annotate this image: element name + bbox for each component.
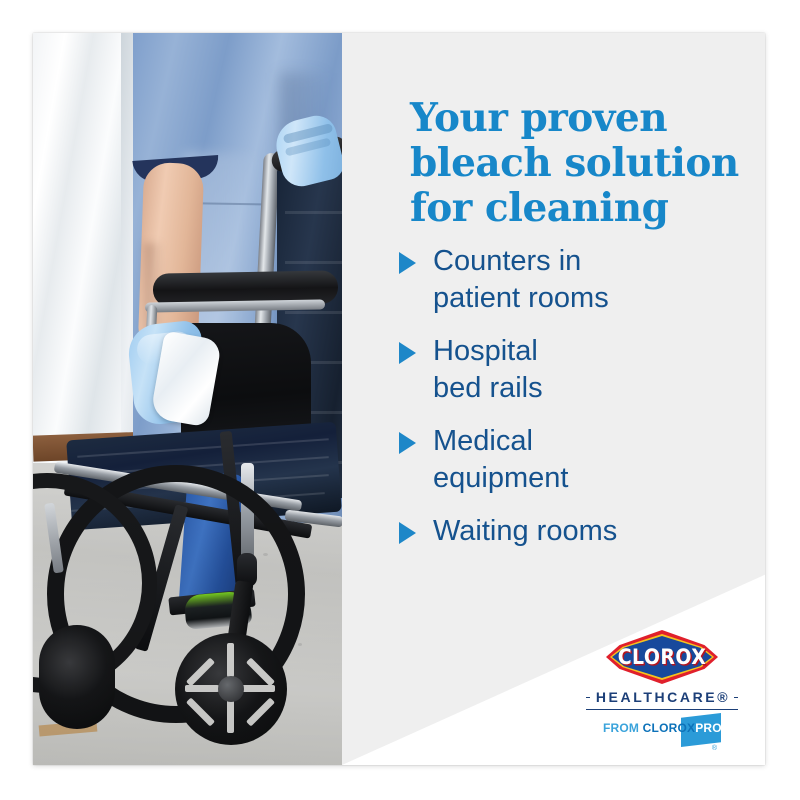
benefit-list: Counters in patient rooms Hospital bed r… [399,243,765,566]
triangle-right-icon [399,432,416,454]
triangle-right-icon [399,522,416,544]
photo-caster-wheel-rear [39,625,115,729]
cloroxpro-suffix: PRO [695,721,722,735]
triangle-right-icon [399,342,416,364]
cloroxpro-text: FROM CLOROXPRO [603,721,721,735]
list-item: Waiting rooms [399,513,765,550]
cloroxpro-endorsement: FROM CLOROXPRO ® [603,717,721,743]
marketing-content-panel: Your proven bleach solution for cleaning… [342,33,765,765]
list-item: Hospital bed rails [399,333,765,407]
benefit-label: Medical equipment [433,423,568,497]
benefit-label: Hospital bed rails [433,333,543,407]
clorox-wordmark: CLOROX [612,630,713,684]
clorox-diamond-icon: CLOROX [606,630,718,684]
triangle-right-icon [399,252,416,274]
clorox-healthcare-logo: CLOROX HEALTHCARE® FROM CLOROXPRO ® [586,630,738,743]
healthcare-divider-row: HEALTHCARE® [586,687,738,707]
list-item: Medical equipment [399,423,765,497]
healthcare-label: HEALTHCARE® [590,687,734,707]
registered-trademark-mark: ® [712,745,717,752]
product-ad-card: Your proven bleach solution for cleaning… [33,33,765,765]
wheelchair-cleaning-photo [33,33,342,765]
healthcare-underline [586,709,738,710]
benefit-label: Waiting rooms [433,513,617,550]
cloroxpro-brand: CLOROX [643,721,696,735]
list-item: Counters in patient rooms [399,243,765,317]
photo-caster-wheel-front [175,633,287,745]
page-title: Your proven bleach solution for cleaning [410,96,765,231]
cloroxpro-from: FROM [603,721,643,735]
benefit-label: Counters in patient rooms [433,243,609,317]
rule-right [734,697,738,698]
